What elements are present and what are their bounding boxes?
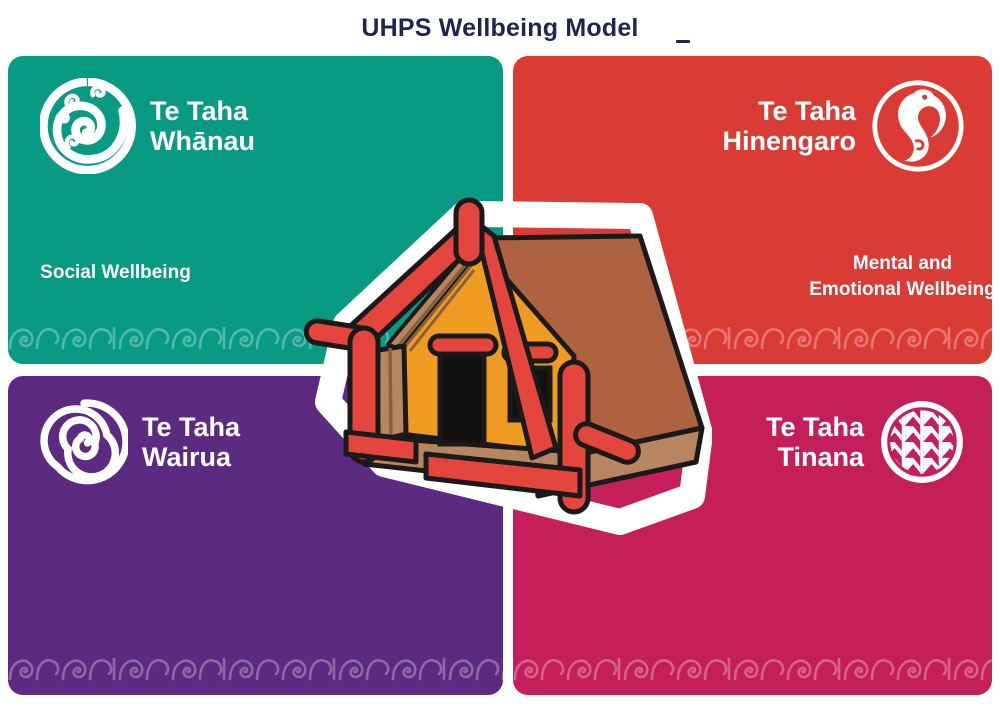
quadrant-header-wairua: Te Taha Wairua — [40, 398, 240, 486]
tekoteko-finial-post — [456, 200, 482, 264]
koru-spiral-icon — [40, 78, 136, 174]
quadrant-english-name-hinengaro: Mental and Emotional Wellbeing — [663, 251, 992, 302]
page-title: UHPS Wellbeing Model — [0, 14, 1000, 43]
quadrant-maori-name-tinana: Te Taha Tinana — [766, 412, 864, 472]
manaia-figure-icon — [870, 78, 966, 174]
paepae-left-beam — [346, 432, 416, 462]
quadrant-header-tinana: Te Taha Tinana — [766, 398, 966, 486]
door-lintel — [430, 336, 496, 354]
koru-border-pattern-wairua — [8, 653, 503, 687]
doorway — [440, 354, 484, 444]
quadrant-maori-name-wairua: Te Taha Wairua — [142, 412, 240, 472]
quadrant-header-hinengaro: Te Taha Hinengaro — [722, 78, 966, 174]
wharenui-meeting-house-illustration — [288, 196, 712, 546]
quadrant-header-whanau: Te Taha Whānau — [40, 78, 255, 174]
wellbeing-model-diagram: UHPS Wellbeing Model — [0, 0, 1000, 707]
quadrant-maori-name-hinengaro: Te Taha Hinengaro — [722, 96, 856, 156]
quadrant-maori-name-whanau: Te Taha Whānau — [150, 96, 255, 156]
koru-border-pattern-tinana — [513, 653, 992, 687]
title-underscore-mark — [676, 40, 690, 43]
concentric-spiral-icon — [40, 398, 128, 486]
niho-taniwha-chevron-icon — [878, 398, 966, 486]
